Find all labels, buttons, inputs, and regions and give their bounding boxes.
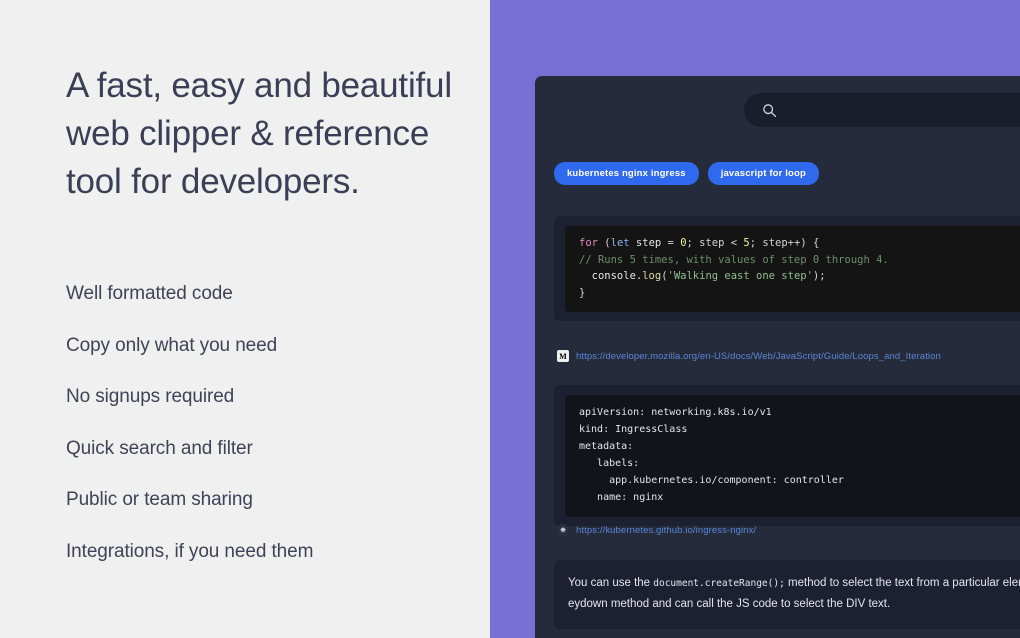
feature-item-5: Integrations, if you need them [66, 541, 476, 563]
note-text-after: method to select the text from a particu… [785, 577, 1020, 589]
snippet-card-yaml[interactable]: apiVersion: networking.k8s.io/v1 kind: I… [554, 385, 1020, 526]
source-link-row-mdn[interactable]: M https://developer.mozilla.org/en-US/do… [557, 350, 941, 362]
page-headline: A fast, easy and beautiful web clipper &… [66, 62, 466, 206]
feature-item-1: Copy only what you need [66, 335, 476, 357]
search-input[interactable] [744, 93, 1020, 127]
tag-kubernetes-nginx-ingress[interactable]: kubernetes nginx ingress [554, 162, 699, 185]
source-link-row-kubernetes[interactable]: ⎈ https://kubernetes.github.io/ingress-n… [557, 524, 756, 536]
note-card[interactable]: You can use the document.createRange(); … [554, 560, 1020, 629]
mdn-favicon: M [557, 350, 569, 362]
code-token: name: nginx [579, 492, 663, 503]
code-token: log [642, 270, 661, 282]
feature-item-2: No signups required [66, 386, 476, 408]
code-token: let [611, 237, 636, 249]
code-token: console. [579, 270, 642, 282]
source-link-kubernetes[interactable]: https://kubernetes.github.io/ingress-ngi… [576, 525, 756, 536]
code-token: 'Walking east one step' [668, 270, 813, 282]
note-inline-code: document.createRange(); [653, 578, 785, 589]
code-token: kind: IngressClass [579, 424, 687, 435]
code-token: } [579, 287, 585, 299]
code-token: for [579, 237, 604, 249]
feature-item-4: Public or team sharing [66, 489, 476, 511]
code-token: app.kubernetes.io/component: controller [579, 475, 844, 486]
feature-item-3: Quick search and filter [66, 438, 476, 460]
feature-list: Well formatted code Copy only what you n… [66, 283, 476, 592]
code-token: ); [813, 270, 826, 282]
code-token: labels: [579, 458, 639, 469]
app-window-preview: kubernetes nginx ingress javascript for … [535, 76, 1020, 638]
code-token: ; step < [687, 237, 744, 249]
snippet-card-javascript[interactable]: for (let step = 0; step < 5; step++) { /… [554, 216, 1020, 321]
code-token: // Runs 5 times, with values of step 0 t… [579, 254, 889, 266]
code-token: step [636, 237, 668, 249]
note-text-line2: eydown method and can call the JS code t… [568, 598, 890, 610]
search-icon [762, 103, 777, 118]
feature-item-0: Well formatted code [66, 283, 476, 305]
code-token: = [668, 237, 681, 249]
code-token: apiVersion: networking.k8s.io/v1 [579, 407, 772, 418]
code-token: metadata: [579, 441, 633, 452]
marketing-panel: A fast, easy and beautiful web clipper &… [0, 0, 490, 638]
app-topbar [535, 76, 1020, 138]
code-block-yaml: apiVersion: networking.k8s.io/v1 kind: I… [565, 395, 1020, 517]
product-showcase-panel: kubernetes nginx ingress javascript for … [490, 0, 1020, 638]
kubernetes-favicon: ⎈ [557, 524, 569, 536]
code-block-javascript: for (let step = 0; step < 5; step++) { /… [565, 226, 1020, 312]
source-link-mdn[interactable]: https://developer.mozilla.org/en-US/docs… [576, 351, 941, 362]
note-text-before: You can use the [568, 577, 653, 589]
tag-javascript-for-loop[interactable]: javascript for loop [708, 162, 819, 185]
tag-row: kubernetes nginx ingress javascript for … [554, 162, 819, 185]
code-token: ; step++) { [750, 237, 820, 249]
